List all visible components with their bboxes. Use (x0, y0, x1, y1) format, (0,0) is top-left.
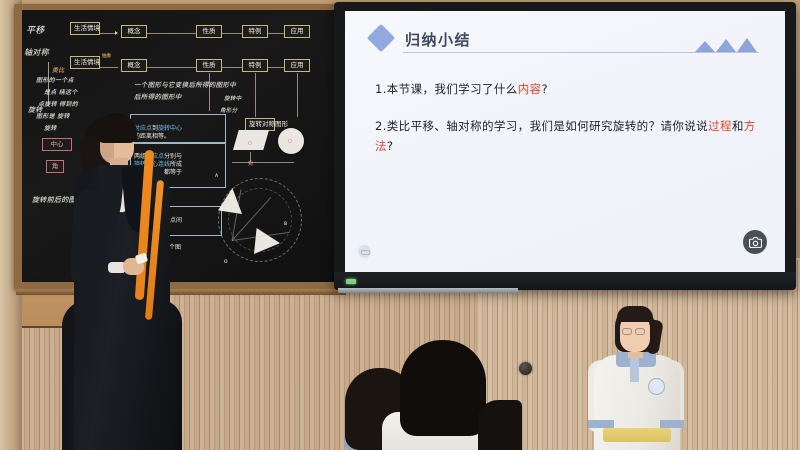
board-node-r0-4: 应用 (284, 25, 310, 38)
board-smallbox-1: 角 (46, 160, 64, 173)
mountain-peak-2 (716, 39, 736, 52)
slide-title: 归纳小结 (405, 29, 471, 50)
board-node-r0-2: 性质 (196, 25, 222, 38)
q2-seg-4: ? (387, 139, 394, 153)
q2-seg-2: 和 (732, 119, 744, 133)
student-bangs (617, 306, 653, 322)
slide-body: 1.本节课，我们学习了什么内容? 2.类比平移、轴对称的学习，我们是如何研究旋转… (365, 79, 765, 156)
title-divider (403, 52, 759, 53)
school-badge-icon (648, 378, 665, 395)
paper-crossbar (232, 162, 294, 163)
speaker-knob-icon (519, 362, 532, 375)
diagram-label-b: B (284, 222, 287, 227)
board-conn-r0-0 (100, 33, 116, 34)
q2-seg-0: 类比平移、轴对称的学习，我们是如何研究旋转的？请你说说 (387, 119, 708, 133)
board-arrowhead-r0-0 (115, 31, 118, 35)
q1-seg-0: 本节课，我们学习了什么 (387, 82, 518, 96)
board-conn-r1-1 (147, 67, 196, 68)
diamond-icon (367, 24, 395, 52)
student-placket (630, 358, 639, 382)
board-conn-r1-3 (268, 67, 284, 68)
board-hand-x4: 旋转 (44, 126, 57, 133)
display-screen[interactable]: 归纳小结 1.本节课，我们学习了什么内容? 2.类比平移、轴对称的学习，我们是如… (345, 11, 785, 272)
board-conn-r0-1 (147, 33, 196, 34)
board-hand-0b: 后所得的图形中 (134, 94, 182, 101)
board-conn-r1-0 (100, 67, 118, 68)
board-statement-0: 对应点到旋转中心的距离相等。 (130, 114, 226, 144)
mountain-peak-1 (695, 41, 715, 52)
paper-label-o2: O (288, 140, 292, 146)
board-hand-0: 一个图形与它变换后所得的图形中 (134, 82, 236, 89)
q1-seg-1: 内容 (518, 82, 542, 96)
board-node-r1-0: 生活情境 (70, 56, 100, 69)
board-left-label-1: 轴对称 (24, 48, 49, 57)
q1-number: 1. (375, 82, 387, 96)
board-hand-x1: 是点 绕这个 (44, 90, 78, 97)
mountain-peak-3 (737, 38, 757, 52)
board-hand-r1: 旋转中 (224, 96, 241, 102)
board-conn-r0-2 (222, 33, 242, 34)
mountain-icon (695, 33, 757, 52)
teacher-arm (70, 189, 109, 286)
board-lowerbox-0: 旋转对称图形 (245, 118, 275, 131)
paper-label-mid: 对 (248, 162, 253, 168)
board-node-r0-0: 生活情境 (70, 22, 100, 35)
board-node-r0-3: 特例 (242, 25, 268, 38)
q1-seg-2: ? (542, 82, 549, 96)
board-conn-note: 抽象 (102, 54, 112, 59)
glasses-icon-right (635, 328, 645, 335)
slide-header: 归纳小结 (365, 25, 765, 59)
diagram-label-o: O (224, 260, 228, 265)
chalk-tray (16, 289, 346, 295)
glasses-icon-left (622, 328, 632, 335)
slide-question-1: 1.本节课，我们学习了什么内容? (375, 79, 765, 99)
diagram-label-a: A (215, 174, 218, 179)
board-left-label-0: 平移 (26, 26, 45, 36)
student-cuff-right (660, 420, 684, 428)
paper-label-o1: O (248, 142, 252, 148)
board-node-r1-4: 应用 (284, 59, 310, 72)
student-seated-right (478, 400, 522, 450)
board-conn-r0-3 (268, 33, 284, 34)
board-node-r1-1: 概念 (121, 59, 147, 72)
board-node-r0-1: 概念 (121, 25, 147, 38)
fg-student-2-head (400, 340, 486, 436)
board-hand-x3: 图形是 旋转 (36, 114, 70, 121)
board-droplineb (255, 73, 256, 117)
student-cuff-left (588, 420, 614, 428)
blackboard-frame: 平移 轴对称 类比 旋转 生活情境 概念 性质 特例 应用 生活情境 抽象 概念… (14, 4, 344, 289)
board-hand-x2: 点旋转 得到的 (38, 102, 78, 109)
power-led-icon (346, 279, 356, 284)
q2-seg-1: 过程 (708, 119, 732, 133)
interactive-display[interactable]: 归纳小结 1.本节课，我们学习了什么内容? 2.类比平移、轴对称的学习，我们是如… (334, 2, 796, 290)
presentation-slide: 归纳小结 1.本节课，我们学习了什么内容? 2.类比平移、轴对称的学习，我们是如… (345, 11, 785, 272)
slide-question-2: 2.类比平移、轴对称的学习，我们是如何研究旋转的？请你说说过程和方法? (375, 116, 765, 156)
q2-number: 2. (375, 119, 387, 133)
board-node-r1-2: 性质 (196, 59, 222, 72)
board-conn-r1-2 (222, 67, 242, 68)
student-belt (603, 428, 671, 442)
blackboard: 平移 轴对称 类比 旋转 生活情境 概念 性质 特例 应用 生活情境 抽象 概念… (22, 10, 340, 282)
board-arrow-note: 类比 (52, 68, 65, 75)
menu-button[interactable] (358, 245, 371, 258)
classroom-scene: 平移 轴对称 类比 旋转 生活情境 概念 性质 特例 应用 生活情境 抽象 概念… (0, 0, 800, 450)
board-droplinec (297, 73, 298, 117)
camera-icon[interactable] (743, 230, 767, 254)
board-hand-4: 图形的一个点 (36, 78, 74, 85)
display-stand (338, 288, 518, 293)
board-smallbox-0: 中心 (42, 138, 72, 151)
board-node-r1-3: 特例 (242, 59, 268, 72)
board-droplinea (209, 73, 210, 111)
